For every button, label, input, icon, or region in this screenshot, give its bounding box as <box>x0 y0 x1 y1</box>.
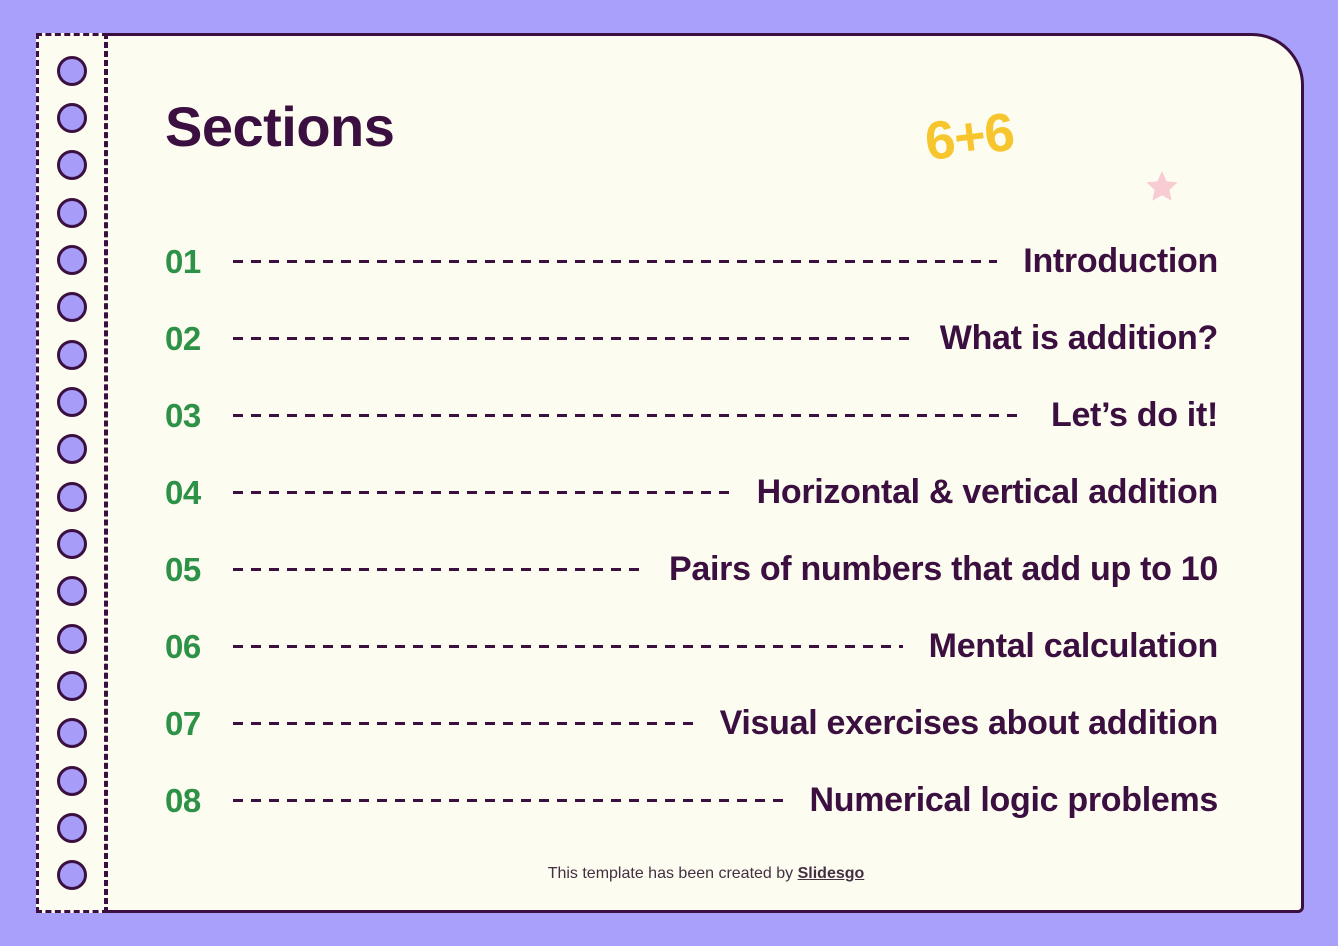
page-content: Sections 6+6 01 Introduction 02 What is … <box>108 33 1304 913</box>
list-item-number: 08 <box>165 782 233 820</box>
page-title: Sections <box>165 99 394 155</box>
list-item[interactable]: 02 What is addition? <box>165 300 1218 377</box>
punch-hole-icon <box>57 718 87 748</box>
leader-line <box>233 645 903 648</box>
punch-hole-icon <box>57 624 87 654</box>
punch-hole-icon <box>57 150 87 180</box>
sections-list: 01 Introduction 02 What is addition? 03 … <box>165 223 1218 839</box>
punch-hole-icon <box>57 387 87 417</box>
list-item-number: 01 <box>165 243 233 281</box>
list-item-label: Mental calculation <box>929 627 1218 666</box>
binding-holes <box>36 33 108 913</box>
list-item[interactable]: 03 Let’s do it! <box>165 377 1218 454</box>
slide-canvas: Sections 6+6 01 Introduction 02 What is … <box>0 0 1338 946</box>
punch-hole-icon <box>57 434 87 464</box>
punch-hole-icon <box>57 340 87 370</box>
punch-hole-icon <box>57 813 87 843</box>
leader-line <box>233 799 784 802</box>
list-item-label: Visual exercises about addition <box>720 704 1218 743</box>
footer-text: This template has been created by <box>548 865 798 882</box>
list-item-number: 02 <box>165 320 233 358</box>
punch-hole-icon <box>57 529 87 559</box>
punch-hole-icon <box>57 860 87 890</box>
list-item-number: 03 <box>165 397 233 435</box>
punch-hole-icon <box>57 671 87 701</box>
star-icon <box>1145 169 1179 203</box>
list-item[interactable]: 06 Mental calculation <box>165 608 1218 685</box>
addition-decoration: 6+6 <box>922 105 1017 169</box>
punch-hole-icon <box>57 245 87 275</box>
punch-hole-icon <box>57 56 87 86</box>
list-item-number: 04 <box>165 474 233 512</box>
leader-line <box>233 722 694 725</box>
list-item-label: Pairs of numbers that add up to 10 <box>669 550 1218 589</box>
list-item[interactable]: 04 Horizontal & vertical addition <box>165 454 1218 531</box>
slidesgo-link[interactable]: Slidesgo <box>798 865 865 882</box>
list-item-number: 05 <box>165 551 233 589</box>
list-item-label: Numerical logic problems <box>810 781 1218 820</box>
punch-hole-icon <box>57 292 87 322</box>
leader-line <box>233 260 997 263</box>
list-item[interactable]: 01 Introduction <box>165 223 1218 300</box>
list-item-label: Horizontal & vertical addition <box>757 473 1218 512</box>
punch-hole-icon <box>57 198 87 228</box>
leader-line <box>233 568 643 571</box>
list-item-number: 06 <box>165 628 233 666</box>
punch-hole-icon <box>57 766 87 796</box>
leader-line <box>233 337 914 340</box>
list-item-number: 07 <box>165 705 233 743</box>
punch-hole-icon <box>57 103 87 133</box>
leader-line <box>233 414 1025 417</box>
list-item[interactable]: 05 Pairs of numbers that add up to 10 <box>165 531 1218 608</box>
list-item-label: Introduction <box>1023 242 1218 281</box>
list-item-label: What is addition? <box>940 319 1218 358</box>
punch-hole-icon <box>57 576 87 606</box>
footer-credit: This template has been created by Slides… <box>108 865 1304 883</box>
leader-line <box>233 491 731 494</box>
list-item[interactable]: 07 Visual exercises about addition <box>165 685 1218 762</box>
list-item[interactable]: 08 Numerical logic problems <box>165 762 1218 839</box>
punch-hole-icon <box>57 482 87 512</box>
list-item-label: Let’s do it! <box>1051 396 1218 435</box>
